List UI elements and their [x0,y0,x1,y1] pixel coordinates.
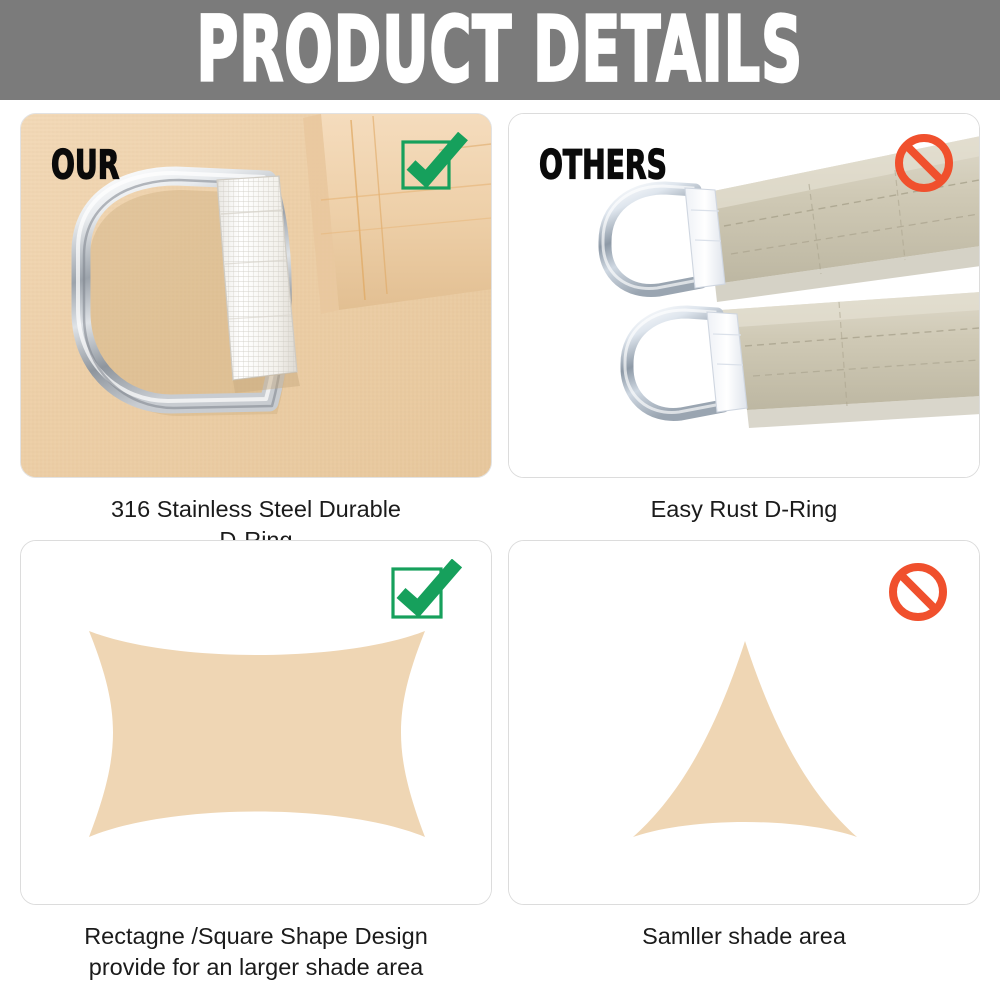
caption-others-d-ring: Easy Rust D-Ring [508,494,980,525]
prohibition-icon [893,132,955,194]
panel-our-shape: Rectagne /Square Shape Design provide fo… [20,540,506,982]
others-d-ring-image-card: OTHERS [508,113,980,478]
panel-our-d-ring: OUR 316 Stainless Steel Durable D-Ring [20,113,506,555]
caption-line: provide for an larger shade area [20,952,492,983]
caption-line: Easy Rust D-Ring [508,494,980,525]
panel-label-others: OTHERS [539,142,667,189]
our-d-ring-image-card: OUR [20,113,492,478]
check-icon [397,132,469,194]
header-banner: PRODUCT DETAILS [0,0,1000,100]
comparison-grid: OUR 316 Stainless Steel Durable D-Ring [0,100,1000,1000]
rectangle-sail-card [20,540,492,905]
prohibition-icon [887,561,949,623]
panel-others-shape: Samller shade area [508,540,994,952]
page-title: PRODUCT DETAILS [197,5,804,95]
panel-others-d-ring: OTHERS Easy Rust D-Ring [508,113,994,525]
caption-others-shape: Samller shade area [508,921,980,952]
panel-label-our: OUR [51,142,119,189]
caption-our-shape: Rectagne /Square Shape Design provide fo… [20,921,492,982]
caption-line: 316 Stainless Steel Durable [20,494,492,525]
caption-line: Samller shade area [508,921,980,952]
triangle-sail-card [508,540,980,905]
check-icon [389,559,463,623]
product-details-page: PRODUCT DETAILS [0,0,1000,1000]
caption-line: Rectagne /Square Shape Design [20,921,492,952]
